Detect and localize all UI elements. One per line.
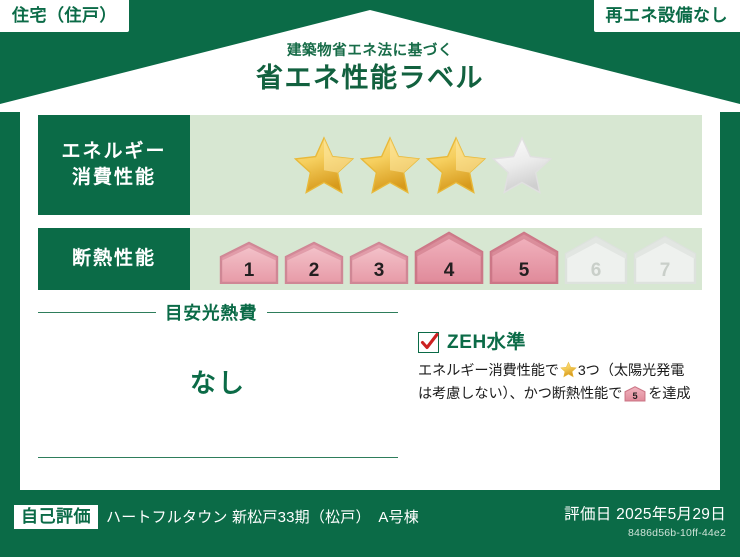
divider-right	[267, 312, 399, 313]
title-block: 建築物省エネ法に基づく 省エネ性能ラベル	[0, 44, 740, 94]
star-filled-icon	[358, 134, 422, 196]
building-name: ハートフルタウン 新松戸33期（松戸） A号棟	[106, 506, 419, 527]
zeh-desc-part1: エネルギー消費性能で	[418, 363, 559, 379]
energy-performance-label-line2: 消費性能	[72, 165, 156, 191]
label-id: 8486d56b-10ff-44e2	[564, 527, 726, 539]
evaluation-date-label: 評価日	[564, 506, 611, 523]
star-filled-icon	[560, 361, 577, 378]
evaluation-date: 評価日 2025年5月29日	[564, 502, 726, 524]
house-icon	[348, 240, 410, 284]
utility-cost-heading: 目安光熱費	[38, 300, 398, 325]
tag-building-type: 住宅（住戸）	[0, 0, 129, 32]
insulation-performance-value: 1	[190, 228, 702, 290]
star-rating	[292, 134, 554, 196]
star-filled-icon	[424, 134, 488, 196]
zeh-panel: ZEH水準 エネルギー消費性能で3つ（太陽光発電は考慮しない）、かつ断熱性能で5…	[418, 332, 710, 410]
lower-section: 目安光熱費 なし ZEH水準 エネルギー消費性能で3つ（太陽光発電は考慮しな	[20, 298, 720, 490]
energy-performance-label-line1: エネルギー	[61, 139, 166, 165]
energy-performance-row: エネルギー 消費性能	[38, 115, 702, 215]
insulation-level-7: 7	[632, 234, 698, 289]
zeh-checkbox[interactable]	[418, 332, 439, 353]
house-icon	[488, 230, 560, 284]
zeh-desc-part2: 3つ（太陽光発電	[578, 363, 684, 379]
insulation-performance-label-text: 断熱性能	[72, 246, 156, 272]
star-empty-icon	[490, 134, 554, 196]
svg-text:5: 5	[633, 391, 638, 401]
footer-left: 自己評価 ハートフルタウン 新松戸33期（松戸） A号棟	[14, 505, 419, 529]
utility-cost-bottom-divider	[38, 457, 398, 458]
insulation-level-6: 6	[563, 234, 629, 289]
zeh-description: エネルギー消費性能で3つ（太陽光発電は考慮しない）、かつ断熱性能で5を達成	[418, 360, 710, 410]
title-subtitle: 建築物省エネ法に基づく	[0, 44, 740, 60]
insulation-level-2: 2	[283, 240, 345, 289]
energy-performance-value	[190, 115, 702, 215]
evaluation-date-value: 2025年5月29日	[616, 506, 726, 523]
utility-cost-value: なし	[38, 363, 398, 400]
zeh-desc-line2-part2: を達成	[648, 386, 690, 402]
footer-right: 評価日 2025年5月29日 8486d56b-10ff-44e2	[564, 502, 726, 539]
insulation-performance-label: 断熱性能	[38, 228, 190, 290]
check-icon	[420, 333, 439, 352]
star-filled-icon	[292, 134, 356, 196]
utility-cost-panel: 目安光熱費 なし	[38, 298, 398, 490]
insulation-level-1: 1	[218, 240, 280, 289]
utility-cost-title: 目安光熱費	[165, 300, 258, 325]
insulation-performance-row: 断熱性能	[38, 228, 702, 290]
self-evaluation-badge: 自己評価	[14, 505, 98, 529]
insulation-level-5: 5	[488, 230, 560, 289]
house-icon: 5	[624, 385, 646, 402]
energy-performance-label: 住宅（住戸） 再エネ設備なし 建築物省エネ法に基づく 省エネ性能ラベル エネルギ…	[0, 0, 740, 557]
house-icon	[413, 230, 485, 284]
house-icon	[283, 240, 345, 284]
zeh-desc-line2-part1: は考慮しない）、かつ断熱性能で	[418, 386, 622, 402]
label-footer: 自己評価 ハートフルタウン 新松戸33期（松戸） A号棟 評価日 2025年5月…	[0, 490, 740, 557]
house-icon	[218, 240, 280, 284]
zeh-heading: ZEH水準	[418, 332, 710, 353]
divider-left	[38, 312, 156, 313]
zeh-title: ZEH水準	[447, 333, 526, 352]
house-icon	[632, 234, 698, 284]
page-title: 省エネ性能ラベル	[0, 63, 740, 94]
insulation-level-4: 4	[413, 230, 485, 289]
energy-performance-label: エネルギー 消費性能	[38, 115, 190, 215]
zeh-achieved-level-badge: 5	[624, 385, 646, 410]
label-card: エネルギー 消費性能	[20, 100, 720, 490]
insulation-level-scale: 1	[218, 230, 698, 289]
insulation-level-3: 3	[348, 240, 410, 289]
house-icon	[563, 234, 629, 284]
label-header: 住宅（住戸） 再エネ設備なし 建築物省エネ法に基づく 省エネ性能ラベル	[0, 0, 740, 112]
tag-renewable-energy: 再エネ設備なし	[594, 0, 740, 32]
